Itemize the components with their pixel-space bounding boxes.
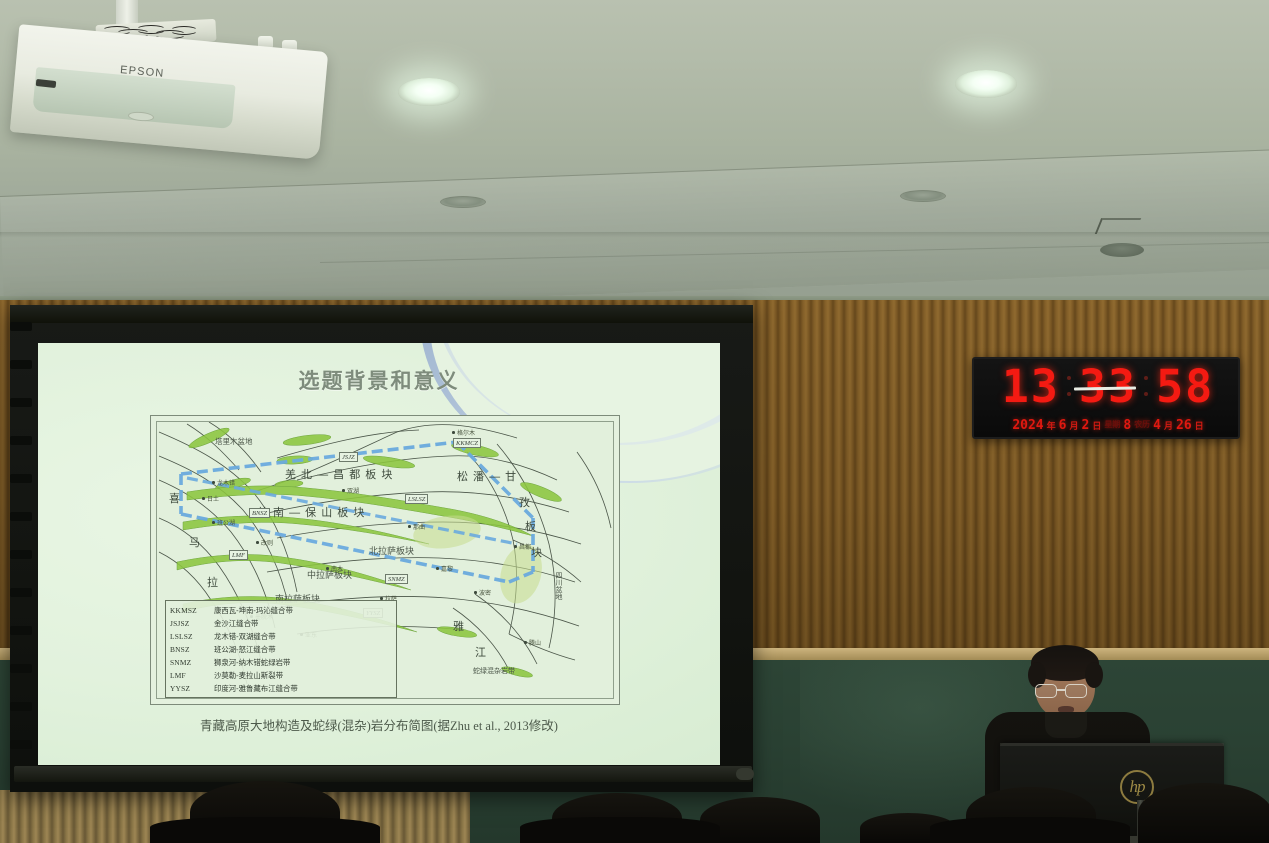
- legend-item: LMF 沙莫勒-麦拉山斯裂带: [170, 669, 392, 682]
- legend-text: 沙莫勒-麦拉山斯裂带: [214, 669, 392, 682]
- map-city: 嘉黎: [441, 564, 453, 573]
- legend-code: SNMZ: [170, 656, 214, 669]
- legend-code: BNSZ: [170, 643, 214, 656]
- projection-screen-rod-cap: [736, 768, 754, 780]
- legend-text: 印度河-雅鲁藏布江缝合带: [214, 682, 392, 695]
- legend-code: YYSZ: [170, 682, 214, 695]
- map-suture-code: LSLSZ: [405, 494, 428, 504]
- map-city: 改则: [261, 538, 273, 547]
- map-suture-code: LMF: [229, 550, 248, 560]
- map-suture-code: BNSZ: [249, 508, 270, 518]
- map-label-himalaya: 拉: [207, 574, 219, 590]
- clock-year-unit: 年: [1047, 419, 1056, 432]
- clock-lunar-day-unit: 日: [1195, 419, 1204, 432]
- geology-map-inner: 塔里木盆地 羌 北 — 昌 都 板 块 松 潘 — 甘 孜 板 块 羌 南 — …: [156, 421, 614, 699]
- map-label: 羌 南 — 保 山 板 块: [257, 504, 365, 520]
- map-city: 日土: [207, 494, 219, 503]
- map-label: 块: [531, 544, 543, 560]
- ceiling-light-right-off: [900, 190, 946, 202]
- clock-year: 2024: [1012, 418, 1043, 433]
- map-city: 班公湖: [217, 518, 235, 527]
- map-label: 孜: [519, 494, 531, 510]
- legend-item: KKMSZ 康西瓦-坤南-玛沁缝合带: [170, 604, 392, 617]
- map-city: 龙木错: [217, 478, 235, 487]
- legend-code: KKMSZ: [170, 604, 214, 617]
- legend-item: SNMZ 狮泉河-纳木错蛇绿岩带: [170, 656, 392, 669]
- clock-lunar-label: 农历: [1134, 421, 1150, 429]
- clock-day: 2: [1081, 418, 1089, 433]
- ceiling-bracket: [1095, 218, 1141, 234]
- projection-screen-roller: [10, 305, 753, 323]
- legend-item: JSJSZ 金沙江缝合带: [170, 617, 392, 630]
- map-suture-code: SNMZ: [385, 574, 408, 584]
- presenter-collar: [1045, 712, 1087, 738]
- map-label: 塔里木盆地: [215, 436, 253, 447]
- map-label: 中拉萨板块: [307, 568, 352, 581]
- map-label: 江: [475, 644, 487, 660]
- clock-month: 6: [1059, 418, 1067, 433]
- legend-text: 龙木错-双湖缝合带: [214, 630, 392, 643]
- map-city: 波密: [479, 588, 491, 597]
- legend-item: LSLSZ 龙木错-双湖缝合带: [170, 630, 392, 643]
- clock-lunar-month: 4: [1153, 418, 1161, 433]
- map-label: 板: [525, 518, 537, 534]
- clock-weekday-label: 星期: [1104, 421, 1120, 429]
- slide-caption: 青藏高原大地构造及蛇绿(混杂)岩分布简图(据Zhu et al., 2013修改…: [38, 715, 720, 734]
- legend-code: LMF: [170, 669, 214, 682]
- clock-day-unit: 日: [1092, 419, 1101, 432]
- map-ophiolite-legend-label: 蛇绿混杂岩带: [473, 666, 515, 676]
- ceiling-light-left: [398, 78, 460, 106]
- laptop-lid-edge: [1000, 743, 1224, 746]
- projection-screen-bottom-rod: [14, 766, 752, 782]
- map-city: 南木: [331, 564, 343, 573]
- clock-seconds: 58: [1156, 360, 1214, 413]
- projection-screen-tabs: [10, 312, 34, 782]
- map-suture-code: KKMCZ: [453, 438, 481, 448]
- map-city: 格尔木: [457, 428, 475, 437]
- clock-hours: 13: [1002, 360, 1060, 413]
- map-city: 腾山: [529, 638, 541, 647]
- ceiling-light-left-off: [440, 196, 486, 208]
- legend-text: 康西瓦-坤南-玛沁缝合带: [214, 604, 392, 617]
- audience-head: [1138, 783, 1269, 843]
- clock-colon-icon: [1065, 368, 1074, 404]
- legend-code: JSJSZ: [170, 617, 214, 630]
- map-label: 羌 北 — 昌 都 板 块: [285, 466, 393, 482]
- legend-text: 金沙江缝合带: [214, 617, 392, 630]
- map-label-himalaya: 马: [189, 534, 201, 550]
- ceiling-speaker-icon: [1100, 243, 1144, 257]
- map-city: 双湖: [347, 486, 359, 495]
- map-label: 四川盆地: [553, 572, 563, 600]
- lecture-hall-scene: EPSON 选题背景和意义: [0, 0, 1269, 843]
- clock-lunar-month-unit: 月: [1164, 419, 1173, 432]
- map-city: 那曲: [413, 522, 425, 531]
- audience-shoulder: [520, 817, 720, 843]
- legend-text: 班公湖-怒江缝合带: [214, 643, 392, 656]
- clock-weekday: 8: [1123, 418, 1131, 433]
- slide-title: 选题背景和意义: [38, 365, 720, 395]
- legend-item: BNSZ 班公湖-怒江缝合带: [170, 643, 392, 656]
- clock-date-display: 2024 年 6 月 2 日 星期 8 农历 4 月 26 日: [974, 413, 1242, 437]
- map-legend: KKMSZ 康西瓦-坤南-玛沁缝合带 JSJSZ 金沙江缝合带 LSLSZ 龙木…: [165, 600, 397, 698]
- clock-colon-icon-2: [1142, 368, 1151, 404]
- legend-code: LSLSZ: [170, 630, 214, 643]
- glasses-icon: [1035, 684, 1097, 698]
- legend-text: 狮泉河-纳木错蛇绿岩带: [214, 656, 392, 669]
- map-label: 雅: [453, 618, 465, 634]
- map-label: 松 潘 — 甘: [457, 468, 517, 484]
- map-label: 北拉萨板块: [369, 544, 414, 557]
- clock-month-unit: 月: [1069, 419, 1078, 432]
- ceiling-light-right: [955, 70, 1017, 98]
- geology-map: 塔里木盆地 羌 北 — 昌 都 板 块 松 潘 — 甘 孜 板 块 羌 南 — …: [150, 415, 620, 705]
- map-suture-code: JSJZ: [339, 452, 358, 462]
- audience-shoulder: [930, 817, 1130, 843]
- map-label-himalaya: 喜: [169, 490, 181, 506]
- audience-shoulder: [150, 817, 380, 843]
- presentation-slide: 选题背景和意义: [38, 343, 720, 765]
- digital-wall-clock: 13 33 58 2024 年 6 月 2 日 星期 8 农历 4 月 26 日: [972, 357, 1240, 439]
- legend-item: YYSZ 印度河-雅鲁藏布江缝合带: [170, 682, 392, 695]
- clock-lunar-day: 26: [1176, 418, 1192, 433]
- map-city: 昌都: [519, 542, 531, 551]
